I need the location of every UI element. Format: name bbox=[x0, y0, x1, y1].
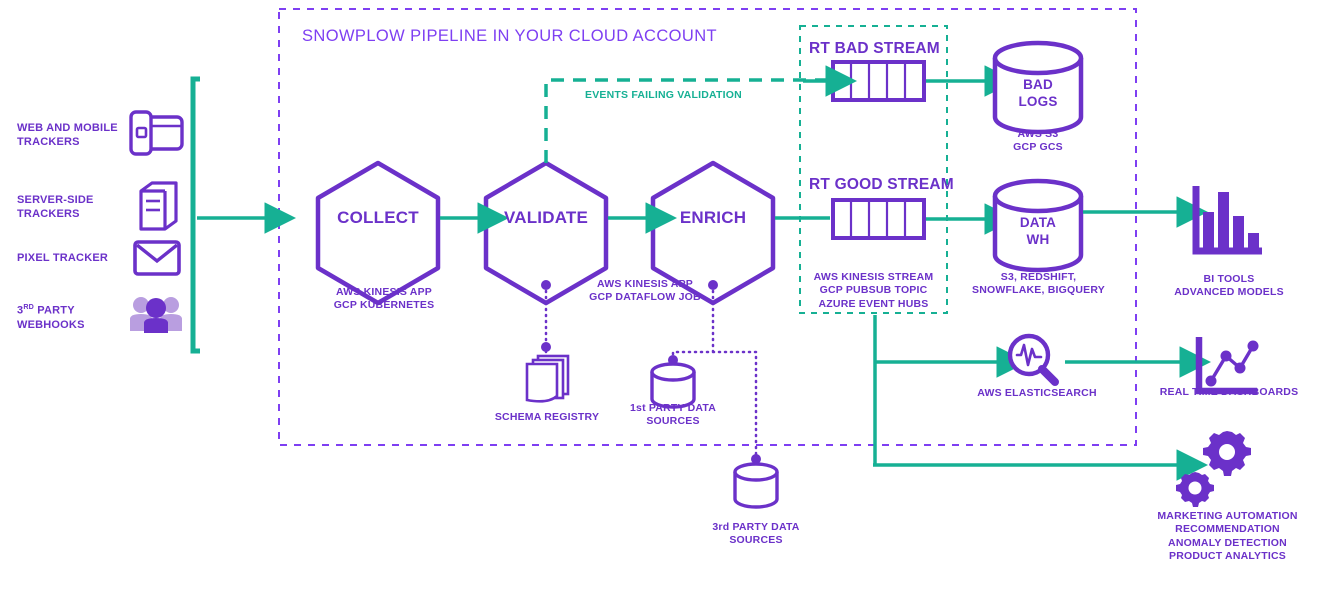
stage-caption-collect: AWS KINESIS APPGCP KUBERNETES bbox=[311, 286, 457, 313]
mobile-browser-icon bbox=[131, 112, 182, 154]
bad-logs-title: BADLOGS bbox=[995, 76, 1081, 111]
people-icon bbox=[130, 297, 182, 333]
bad-logs-caption: AWS S3GCP GCS bbox=[975, 128, 1101, 155]
first-party-database-icon bbox=[652, 364, 694, 407]
source-label-pixel-tracker: PIXEL TRACKER bbox=[17, 251, 132, 265]
sources-bracket bbox=[193, 79, 200, 351]
schema-registry-label: SCHEMA REGISTRY bbox=[478, 411, 616, 424]
gears-icon bbox=[1176, 431, 1251, 507]
source-label-webhooks: 3RD PARTYWEBHOOKS bbox=[17, 303, 127, 332]
good-stream-title: RT GOOD STREAM bbox=[809, 175, 969, 195]
stage-label-validate: VALIDATE bbox=[486, 207, 606, 229]
first-party-label: 1st PARTY DATASOURCES bbox=[610, 402, 736, 429]
bi-tools-label: BI TOOLSADVANCED MODELS bbox=[1150, 273, 1308, 300]
line-chart-icon bbox=[1199, 337, 1259, 391]
magnifier-waveform-icon bbox=[1010, 336, 1055, 382]
good-stream-caption: AWS KINESIS STREAM GCP PUBSUB TOPIC AZUR… bbox=[800, 271, 947, 311]
stage-caption-validate: AWS KINESIS APPGCP DATAFLOW JOB bbox=[570, 278, 720, 305]
bar-chart-icon bbox=[1196, 186, 1262, 251]
schema-registry-dot bbox=[541, 342, 551, 352]
server-icon bbox=[141, 183, 176, 229]
stage-label-enrich: ENRICH bbox=[653, 207, 773, 229]
validate-dot bbox=[541, 280, 551, 290]
bad-stream-title: RT BAD STREAM bbox=[809, 39, 969, 59]
events-failing-validation-label: EVENTS FAILING VALIDATION bbox=[585, 89, 815, 102]
page-title: SNOWPLOW PIPELINE IN YOUR CLOUD ACCOUNT bbox=[302, 26, 822, 47]
stage-label-collect: COLLECT bbox=[318, 207, 438, 229]
envelope-icon bbox=[135, 242, 179, 274]
bad-stream-box bbox=[833, 62, 924, 100]
third-party-label: 3rd PARTY DATASOURCES bbox=[693, 521, 819, 548]
data-wh-title: DATAWH bbox=[995, 214, 1081, 249]
source-label-web-mobile: WEB AND MOBILETRACKERS bbox=[17, 121, 127, 149]
marketing-label: MARKETING AUTOMATION RECOMMENDATION ANOM… bbox=[1140, 510, 1315, 564]
good-stream-box bbox=[833, 200, 924, 238]
source-label-server-side: SERVER-SIDETRACKERS bbox=[17, 193, 127, 221]
data-wh-caption: S3, REDSHIFT,SNOWFLAKE, BIGQUERY bbox=[956, 271, 1121, 298]
dashboards-label: REAL TIME DASHBOARDS bbox=[1143, 386, 1315, 399]
elasticsearch-label: AWS ELASTICSEARCH bbox=[962, 387, 1112, 400]
collect-hexagon bbox=[318, 163, 438, 303]
documents-stack-icon bbox=[527, 356, 568, 401]
diagram-canvas: SNOWPLOW PIPELINE IN YOUR CLOUD ACCOUNT … bbox=[0, 0, 1317, 592]
third-party-database-icon bbox=[735, 464, 777, 507]
